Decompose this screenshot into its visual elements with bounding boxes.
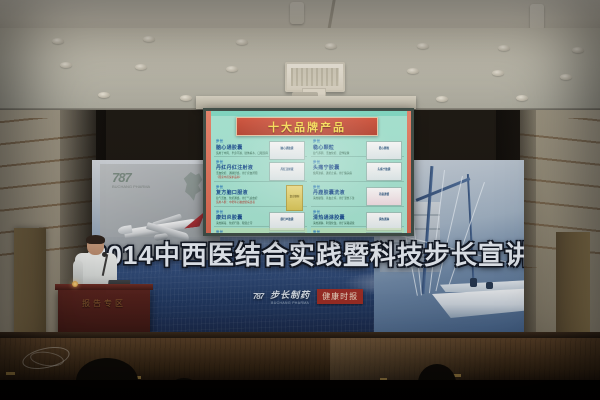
product-package-image: 护肝胶囊 (366, 232, 402, 233)
presentation-slide: 十大品牌产品 步长脑心通胶囊适用于中风、半身不遂、肢体麻木、口眼歪斜脑心通胶囊步… (206, 111, 411, 233)
aircraft-mark-label: 787 (112, 170, 131, 185)
ceiling-downlight-icon (236, 39, 248, 45)
ceiling-downlight-icon (226, 66, 238, 72)
ceiling-downlight-icon (180, 95, 192, 101)
product-cell: 步长康妇炎胶囊清热解毒、化瘀行滞、除湿止带康妇炎胶囊 (214, 208, 307, 228)
projection-screen: 十大品牌产品 步长脑心通胶囊适用于中风、半身不遂、肢体麻木、口眼歪斜脑心通胶囊步… (206, 111, 411, 233)
smoke-detector-icon (530, 4, 544, 30)
ac-grille (291, 68, 339, 86)
slide-title-banner: 十大品牌产品 (236, 117, 378, 136)
bottom-letterbox (0, 380, 600, 400)
product-package-label: 复方制剂 (287, 194, 302, 198)
podium-top-edge (55, 284, 153, 290)
product-description: 熄风涤痰、逐瘀止痛，用于偏头痛 (313, 172, 368, 175)
product-package-image: 丹鹿通督 (366, 187, 402, 206)
company-logo-cn: 步长制药 (270, 288, 310, 301)
product-cell: 步长丹芪偏瘫胶囊益气活血、化痰通络，用于缺血性中风丹芪偏瘫胶囊 (214, 228, 307, 233)
slide-right-border (407, 111, 411, 233)
aircraft-logo-icon: 787 (253, 292, 263, 301)
auditorium-scene: 787 BUCHANG PHARMA (0, 0, 600, 400)
company-logo-en: BUCHANG PHARMA (271, 301, 309, 305)
ceiling-downlight-icon (516, 95, 528, 101)
product-cell: 步长脑心通胶囊适用于中风、半身不遂、肢体麻木、口眼歪斜脑心通胶囊 (214, 137, 307, 157)
product-grid: 步长脑心通胶囊适用于中风、半身不遂、肢体麻木、口眼歪斜脑心通胶囊步长稳心颗粒益气… (214, 137, 404, 231)
projection-screen-frame: 十大品牌产品 步长脑心通胶囊适用于中风、半身不遂、肢体麻木、口眼歪斜脑心通胶囊步… (203, 108, 414, 236)
slide-top-band (206, 111, 411, 116)
product-package-image: 丹芪偏瘫胶囊 (269, 232, 305, 233)
product-package-label: 脑心通胶囊 (270, 146, 304, 150)
product-package-image: 丹红注射液 (269, 162, 305, 181)
product-description: 清热解毒、化瘀行滞、除湿止带 (216, 222, 271, 225)
ceiling-downlight-icon (572, 47, 584, 53)
left-wood-panel (14, 228, 46, 348)
aircraft-mark-sub: BUCHANG PHARMA (112, 184, 150, 189)
media-seal-logo: 健康时报 (317, 289, 363, 304)
product-package-label: 丹鹿通督 (367, 192, 401, 196)
company-logo: 步长制药 BUCHANG PHARMA (270, 288, 310, 305)
podium-label: 报告专区 (58, 298, 150, 309)
product-cell: 步长丹鹿胶囊洗液清热燥湿、杀虫止痒，用于湿热下注丹鹿通督 (311, 183, 404, 207)
product-description: 活血化瘀、通脉舒络，用于瘀血闭阻 (216, 172, 271, 175)
ceiling-downlight-icon (60, 62, 72, 68)
ceiling-downlight-icon (498, 45, 510, 51)
product-package-label: 丹红注射液 (270, 167, 304, 171)
microphone-icon (102, 252, 107, 257)
product-cell: 步长清热通淋胶囊清热通淋、利湿化浊，用于尿路感染清热通淋 (311, 208, 404, 228)
product-package-label: 头痛宁胶囊 (367, 167, 401, 171)
airplane-icon (118, 208, 204, 244)
ceiling-downlight-icon (407, 68, 419, 74)
sailboat-winch (470, 278, 477, 287)
ceiling-downlight-icon (52, 38, 64, 44)
ceiling-downlight-icon (325, 43, 337, 49)
product-description-accent: 适用人群：中老年心脑血管病患者 (216, 201, 271, 204)
china-map-icon (182, 172, 204, 202)
product-cell: 步长复方脑口服液益气活血、化瘀通络，用于气虚血瘀适用人群：中老年心脑血管病患者复… (214, 183, 307, 207)
product-description: 益气养阴、活血化瘀、定悸复脉 (313, 152, 368, 155)
product-cell: 步长丹红丹红注射液活血化瘀、通脉舒络，用于瘀血闭阻（国家中药保护品种）丹红注射液 (214, 158, 307, 182)
presenter-hair (86, 235, 105, 244)
podium-lamp-icon (72, 281, 78, 287)
slide-left-border (206, 111, 211, 233)
product-description: 清热通淋、利湿化浊，用于尿路感染 (313, 222, 368, 225)
ceiling-downlight-icon (560, 74, 572, 80)
product-description: 益气活血、化瘀通络，用于气虚血瘀 (216, 197, 271, 200)
ceiling-downlight-icon (436, 96, 448, 102)
ceiling-downlight-icon (135, 64, 147, 70)
ceiling-downlight-icon (98, 92, 110, 98)
stage-tape-marker (6, 372, 15, 375)
product-description: 清热燥湿、杀虫止痒，用于湿热下注 (313, 197, 368, 200)
product-cell: 步长头痛宁胶囊熄风涤痰、逐瘀止痛，用于偏头痛头痛宁胶囊 (311, 158, 404, 182)
product-package-label: 稳心颗粒 (367, 146, 401, 150)
banner-headline: 2014中西医结合实践暨科技步长宣讲会 (92, 242, 524, 268)
product-cell: 步长稳心颗粒益气养阴、活血化瘀、定悸复脉稳心颗粒 (311, 137, 404, 157)
smoke-detector-icon (290, 2, 304, 24)
product-package-label: 康妇炎胶囊 (270, 217, 304, 221)
product-package-image: 头痛宁胶囊 (366, 162, 402, 181)
product-cell: 步长护肝胶囊疏肝理气、健脾消食、降酶保肝护肝胶囊 (311, 228, 404, 233)
product-description: 适用于中风、半身不遂、肢体麻木、口眼歪斜 (216, 152, 271, 155)
ceiling-downlight-icon (492, 70, 504, 76)
product-description-accent: （国家中药保护品种） (216, 176, 271, 179)
slide-title-text: 十大品牌产品 (268, 119, 346, 135)
product-package-label: 清热通淋 (367, 217, 401, 221)
sponsor-logo-row: 787 步长制药 BUCHANG PHARMA 健康时报 (92, 288, 524, 305)
ceiling-downlight-icon (143, 36, 155, 42)
ceiling-downlight-icon (417, 43, 429, 49)
